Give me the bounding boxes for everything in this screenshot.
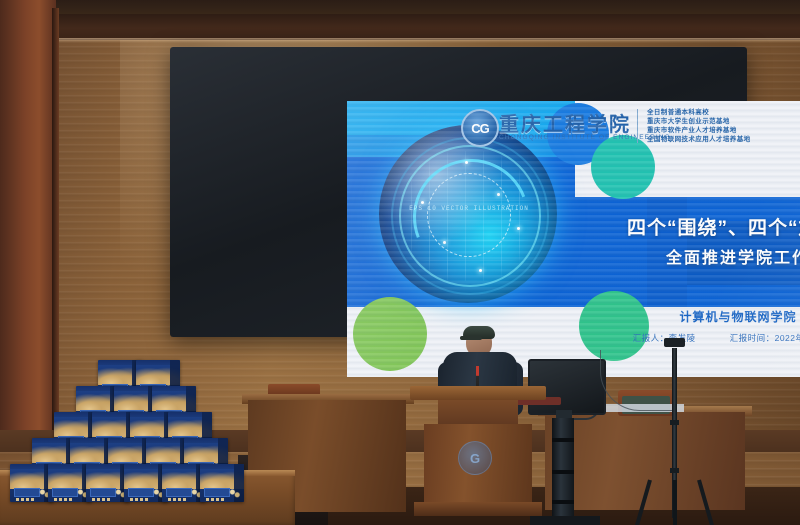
slide-title-line1: 四个“围绕”、四个“加强” (588, 213, 800, 240)
university-name-en: CHONGQING INSTITUTE OF ENGINEERING (499, 134, 671, 141)
credential-item: 全国物联网技术应用人才培养基地 (647, 135, 751, 144)
department-name: 计算机与物联网学院 (588, 308, 800, 325)
sphere-spark (517, 227, 520, 230)
sphere-ring-dashed (427, 173, 511, 257)
university-name-cn: 重庆工程学院 (499, 108, 631, 137)
tripod-head (664, 338, 685, 347)
sphere-spark (443, 241, 446, 244)
tripod-leg (673, 480, 677, 525)
credential-item: 重庆市软件产业人才培养基地 (647, 126, 751, 135)
gift-box-pyramid (8, 336, 248, 496)
wall-trim-highlight (34, 38, 800, 43)
decor-circle-lime (353, 297, 427, 371)
sphere-spark (421, 201, 424, 204)
credential-item: 重庆市大学生创业示范基地 (647, 117, 751, 126)
sphere-spark (465, 161, 468, 164)
monitor-stand-base (530, 516, 600, 525)
gift-box (200, 464, 244, 502)
cqie-emblem-icon: CG (461, 109, 499, 147)
slide-title-line2: 全面推进学院工作 (588, 244, 800, 268)
tripod-knob (670, 468, 679, 473)
podium-base (414, 502, 542, 516)
stand-clamp (552, 438, 574, 442)
sphere-caption: EPS 10 VECTOR ILLUSTRATION (409, 205, 529, 212)
credential-item: 全日制普通本科高校 (647, 108, 751, 117)
podium-top (410, 386, 546, 400)
presentation-hall-photo: EPS 10 VECTOR ILLUSTRATION CG 重庆工程学院 CHO… (0, 0, 800, 525)
presentation-slide[interactable]: EPS 10 VECTOR ILLUSTRATION CG 重庆工程学院 CHO… (347, 101, 800, 377)
header-divider (637, 109, 638, 143)
date-label: 汇报时间：2022年01月14日 (730, 332, 800, 344)
presenter-cap-brim (460, 336, 482, 340)
slide-header: CG 重庆工程学院 CHONGQING INSTITUTE OF ENGINEE… (347, 101, 800, 155)
stand-clamp (552, 470, 574, 474)
stand-clamp (552, 500, 574, 504)
cqie-emblem-icon: G (458, 441, 492, 475)
slide-meta: 汇报人：李发陵 汇报时间：2022年01月14日 (588, 332, 800, 344)
sphere-spark (479, 269, 482, 272)
led-screen-bezel: EPS 10 VECTOR ILLUSTRATION CG 重庆工程学院 CHO… (170, 47, 747, 337)
sphere-spark (497, 193, 500, 196)
tripod-knob (670, 420, 679, 425)
wall-top-trim (34, 14, 800, 40)
credentials-list: 全日制普通本科高校 重庆市大学生创业示范基地 重庆市软件产业人才培养基地 全国物… (647, 108, 751, 144)
